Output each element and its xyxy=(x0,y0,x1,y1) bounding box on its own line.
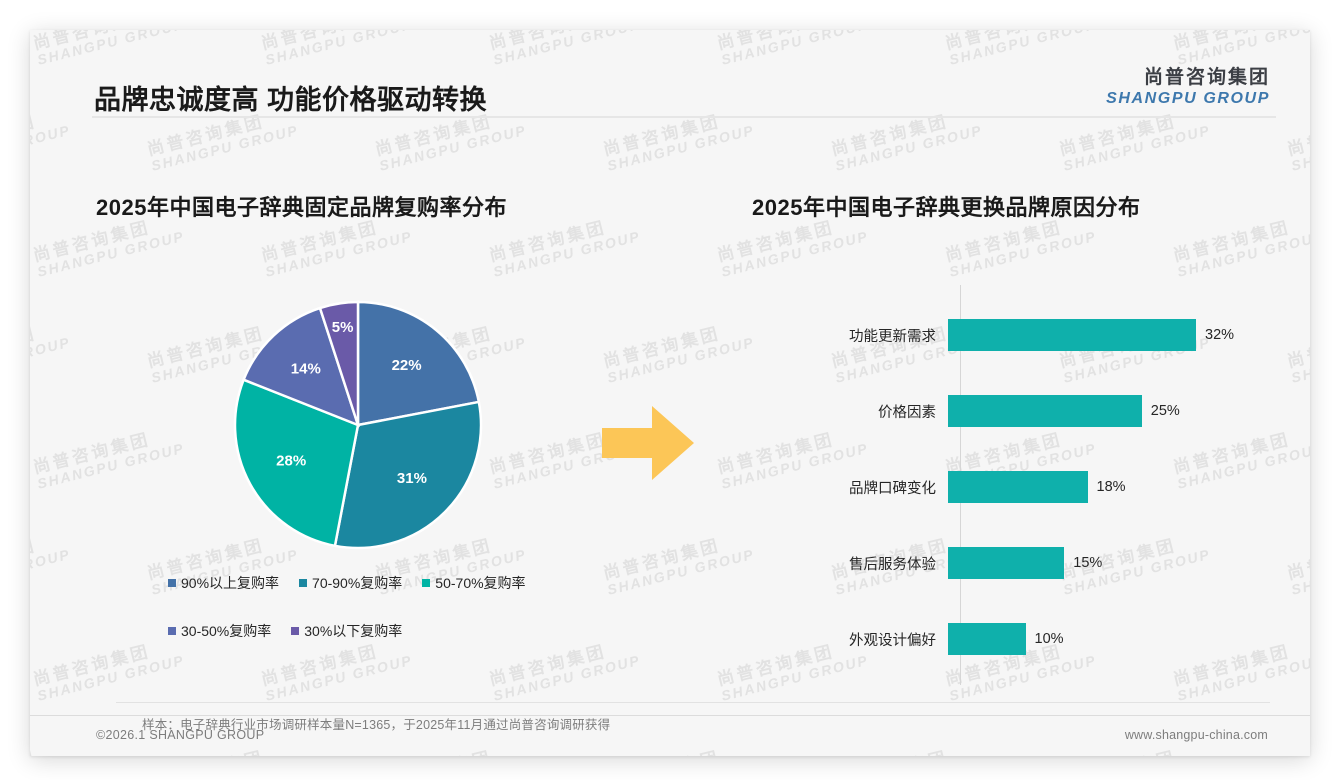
pie-chart: 22%31%28%14%5% xyxy=(218,295,498,555)
left-chart-title: 2025年中国电子辞典固定品牌复购率分布 xyxy=(96,190,507,222)
legend-label: 30%以下复购率 xyxy=(304,621,402,641)
slide-canvas: 尚普咨询集团SHANGPU GROUP尚普咨询集团SHANGPU GROUP尚普… xyxy=(30,30,1310,756)
pie-slice-group xyxy=(235,302,481,548)
watermark-tile: 尚普咨询集团SHANGPU GROUP xyxy=(30,417,186,491)
bar-category-label: 价格因素 xyxy=(752,401,948,422)
right-chart-title: 2025年中国电子辞典更换品牌原因分布 xyxy=(752,190,1140,222)
watermark-tile: 尚普咨询集团SHANGPU GROUP xyxy=(1170,205,1310,279)
legend-row-top: 90%以上复购率70-90%复购率50-70%复购率 xyxy=(168,573,588,593)
bar-category-label: 功能更新需求 xyxy=(752,325,948,346)
watermark-tile: 尚普咨询集团SHANGPU GROUP xyxy=(372,735,528,756)
pie-slice-label: 31% xyxy=(397,470,427,487)
bar-track: 25% xyxy=(948,395,1292,427)
legend-item[interactable]: 30-50%复购率 xyxy=(168,621,271,641)
legend-swatch-icon xyxy=(168,579,176,587)
legend-label: 50-70%复购率 xyxy=(435,573,525,593)
legend-item[interactable]: 90%以上复购率 xyxy=(168,573,279,593)
footnote-divider xyxy=(116,702,1270,703)
legend-item[interactable]: 50-70%复购率 xyxy=(422,573,525,593)
bar-row: 价格因素25% xyxy=(752,395,1292,427)
pie-slice-label: 5% xyxy=(332,319,354,336)
watermark-tile: 尚普咨询集团SHANGPU GROUP xyxy=(30,311,72,385)
header-divider xyxy=(92,116,1276,118)
watermark-tile: 尚普咨询集团SHANGPU GROUP xyxy=(600,311,756,385)
bar-fill[interactable] xyxy=(948,623,1026,655)
pie-slice-label: 28% xyxy=(276,453,306,470)
legend-swatch-icon xyxy=(168,627,176,635)
page-title: 品牌忠诚度高 功能价格驱动转换 xyxy=(94,78,487,117)
bar-track: 15% xyxy=(948,547,1292,579)
bar-track: 32% xyxy=(948,319,1292,351)
legend-item[interactable]: 30%以下复购率 xyxy=(291,621,402,641)
legend-label: 70-90%复购率 xyxy=(312,573,402,593)
pie-legend: 90%以上复购率70-90%复购率50-70%复购率 30-50%复购率30%以… xyxy=(168,573,588,641)
legend-label: 30-50%复购率 xyxy=(181,621,271,641)
bar-row: 外观设计偏好10% xyxy=(752,623,1292,655)
watermark-tile: 尚普咨询集团SHANGPU GROUP xyxy=(600,523,756,597)
pie-slice-label: 22% xyxy=(392,357,422,374)
watermark-tile: 尚普咨询集团SHANGPU GROUP xyxy=(30,523,72,597)
watermark-tile: 尚普咨询集团SHANGPU GROUP xyxy=(30,735,72,756)
legend-swatch-icon xyxy=(422,579,430,587)
logo-chinese-text: 尚普咨询集团 xyxy=(1106,62,1270,89)
bar-track: 18% xyxy=(948,471,1292,503)
bar-row: 功能更新需求32% xyxy=(752,319,1292,351)
watermark-tile: 尚普咨询集团SHANGPU GROUP xyxy=(600,735,756,756)
bar-fill[interactable] xyxy=(948,471,1088,503)
legend-label: 90%以上复购率 xyxy=(181,573,279,593)
footer-copyright: ©2026.1 SHANGPU GROUP xyxy=(96,728,264,742)
footer-divider xyxy=(30,715,1310,716)
bar-value-label: 32% xyxy=(1205,327,1234,343)
bar-row: 售后服务体验15% xyxy=(752,547,1292,579)
bar-category-label: 外观设计偏好 xyxy=(752,629,948,650)
bar-value-label: 15% xyxy=(1073,555,1102,571)
bar-value-label: 18% xyxy=(1097,479,1126,495)
brand-logo: 尚普咨询集团 SHANGPU GROUP xyxy=(1106,62,1270,108)
bar-chart: 功能更新需求32%价格因素25%品牌口碑变化18%售后服务体验15%外观设计偏好… xyxy=(752,285,1292,685)
bar-value-label: 25% xyxy=(1151,403,1180,419)
legend-row-bottom: 30-50%复购率30%以下复购率 xyxy=(168,621,588,641)
bar-fill[interactable] xyxy=(948,547,1064,579)
right-arrow-icon xyxy=(602,400,696,491)
watermark-tile: 尚普咨询集团SHANGPU GROUP xyxy=(828,735,984,756)
watermark-tile: 尚普咨询集团SHANGPU GROUP xyxy=(30,629,186,703)
footer-website[interactable]: www.shangpu-china.com xyxy=(1125,728,1268,742)
bar-category-label: 售后服务体验 xyxy=(752,553,948,574)
bar-fill[interactable] xyxy=(948,395,1142,427)
watermark-tile: 尚普咨询集团SHANGPU GROUP xyxy=(486,205,642,279)
logo-english-text: SHANGPU GROUP xyxy=(1106,90,1270,108)
bar-value-label: 10% xyxy=(1035,631,1064,647)
slide-header: 品牌忠诚度高 功能价格驱动转换 尚普咨询集团 SHANGPU GROUP xyxy=(30,30,1310,116)
pie-chart-svg: 22%31%28%14%5% xyxy=(218,295,498,555)
watermark-tile: 尚普咨询集团SHANGPU GROUP xyxy=(1284,735,1310,756)
legend-swatch-icon xyxy=(291,627,299,635)
legend-swatch-icon xyxy=(299,579,307,587)
pie-slice-label: 14% xyxy=(291,360,321,377)
legend-item[interactable]: 70-90%复购率 xyxy=(299,573,402,593)
bar-fill[interactable] xyxy=(948,319,1196,351)
bar-category-label: 品牌口碑变化 xyxy=(752,477,948,498)
bar-track: 10% xyxy=(948,623,1292,655)
bar-row: 品牌口碑变化18% xyxy=(752,471,1292,503)
